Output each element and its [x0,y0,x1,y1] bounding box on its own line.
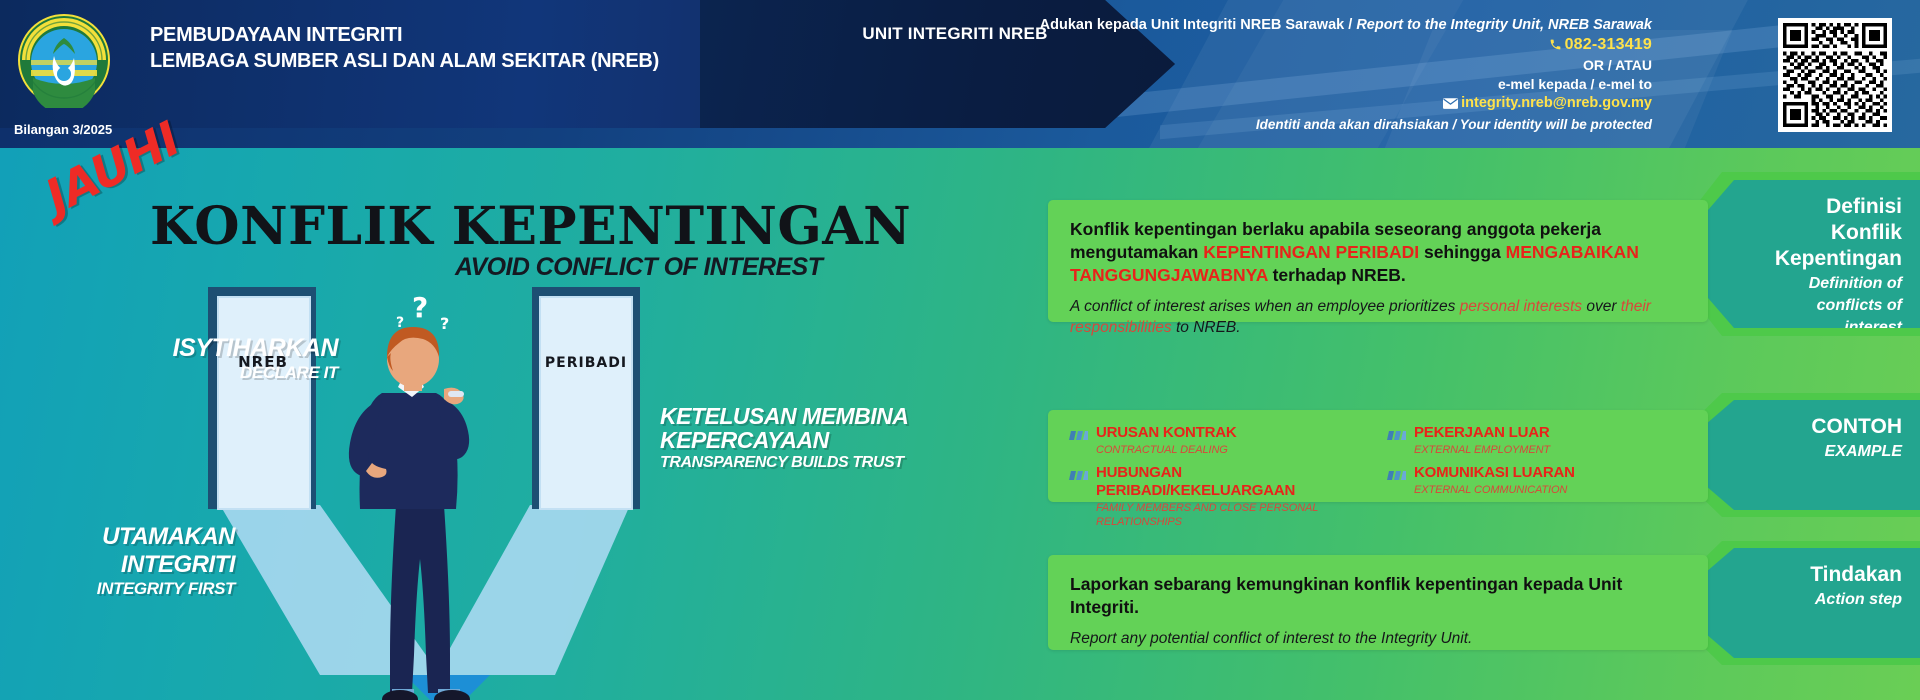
phone-number: 082-313419 [1565,36,1652,53]
list-item: PEKERJAAN LUAR EXTERNAL EMPLOYMENT [1386,424,1688,457]
tab-definition-en-line1: Definition of [1744,274,1902,294]
label-declare: ISYTIHARKAN DECLARE IT [108,334,338,383]
issue-number: Bilangan 3/2025 [14,122,112,137]
def-ms-part3: terhadap NREB. [1268,265,1406,285]
email-address: integrity.nreb@nreb.gov.my [1461,95,1652,111]
email-label: e-mel kepada / e-mel to [952,75,1652,94]
triple-chevron-icon [1068,427,1088,445]
organization-title: PEMBUDAYAAN INTEGRITI LEMBAGA SUMBER ASL… [150,22,659,74]
privacy-note: Identiti anda akan dirahsiakan / Your id… [952,115,1652,134]
def-ms-highlight1: KEPENTINGAN PERIBADI [1203,242,1419,262]
contact-block: Adukan kepada Unit Integriti NREB Sarawa… [952,16,1652,134]
example-en: EXTERNAL EMPLOYMENT [1414,443,1550,457]
example-ms: PEKERJAAN LUAR [1414,424,1550,441]
tab-definition-ms-line1: Definisi [1744,194,1902,220]
definition-text-en: A conflict of interest arises when an em… [1070,296,1686,338]
svg-text:?: ? [412,291,428,324]
example-column-left: URUSAN KONTRAK CONTRACTUAL DEALING HUBUN… [1068,424,1370,536]
panel-example: URUSAN KONTRAK CONTRACTUAL DEALING HUBUN… [1048,410,1708,502]
panel-action: Laporkan sebarang kemungkinan konflik ke… [1048,555,1708,650]
def-ms-part2: sehingga [1419,242,1506,262]
def-en-part2: over [1582,298,1621,315]
tab-example-ms: CONTOH [1744,414,1902,440]
tab-definition-en-line2: conflicts of [1744,296,1902,316]
or-label: OR / ATAU [952,56,1652,75]
phone-icon [1549,37,1562,56]
org-title-line1: PEMBUDAYAAN INTEGRITI [150,22,659,48]
example-item-text: PEKERJAAN LUAR EXTERNAL EMPLOYMENT [1414,424,1550,457]
report-separator: / [1348,17,1352,33]
example-ms: URUSAN KONTRAK [1096,424,1237,441]
report-line: Adukan kepada Unit Integriti NREB Sarawa… [952,16,1652,35]
qr-code[interactable] [1778,18,1892,132]
tab-definition-ms-line3: Kepentingan [1744,246,1902,272]
tab-action-ms: Tindakan [1744,562,1902,588]
svg-text:?: ? [440,314,449,333]
example-item-text: HUBUNGAN PERIBADI/KEKELUARGAAN FAMILY ME… [1096,464,1370,529]
label-integrity-ms: UTAMAKAN INTEGRITI [30,523,235,579]
list-item: KOMUNIKASI LUARAN EXTERNAL COMMUNICATION [1386,464,1688,497]
def-en-part3: to NREB. [1172,319,1241,336]
triple-chevron-icon [1386,467,1406,485]
page-subtitle: AVOID CONFLICT OF INTEREST [455,253,822,282]
example-en: EXTERNAL COMMUNICATION [1414,483,1575,497]
label-trust-ms-line1: KETELUSAN MEMBINA [660,404,930,428]
svg-text:PERIBADI: PERIBADI [545,355,627,371]
example-column-right: PEKERJAAN LUAR EXTERNAL EMPLOYMENT KOMUN… [1386,424,1688,536]
example-item-text: URUSAN KONTRAK CONTRACTUAL DEALING [1096,424,1237,457]
action-text-ms: Laporkan sebarang kemungkinan konflik ke… [1070,573,1686,619]
phone-line[interactable]: 082-313419 [952,35,1652,56]
report-label-ms: Adukan kepada Unit Integriti NREB Sarawa… [1040,17,1345,33]
email-line[interactable]: integrity.nreb@nreb.gov.my [952,94,1652,115]
report-label-en: Report to the Integrity Unit, NREB Saraw… [1356,17,1652,33]
header-bar: PEMBUDAYAAN INTEGRITI LEMBAGA SUMBER ASL… [0,0,1920,148]
svg-text:?: ? [396,315,404,331]
label-declare-en: DECLARE IT [108,363,338,383]
label-integrity-first: UTAMAKAN INTEGRITI INTEGRITY FIRST [30,523,235,599]
label-declare-ms: ISYTIHARKAN [108,334,338,363]
label-transparency: KETELUSAN MEMBINA KEPERCAYAAN TRANSPAREN… [660,404,930,472]
def-en-highlight1: personal interests [1460,298,1582,315]
def-en-part1: A conflict of interest arises when an em… [1070,298,1460,315]
tab-definition-ms-line2: Konflik [1744,220,1902,246]
example-en: CONTRACTUAL DEALING [1096,443,1237,457]
list-item: HUBUNGAN PERIBADI/KEKELUARGAAN FAMILY ME… [1068,464,1370,529]
action-text-en: Report any potential conflict of interes… [1070,628,1686,649]
label-integrity-en: INTEGRITY FIRST [30,579,235,599]
triple-chevron-icon [1386,427,1406,445]
label-trust-en: TRANSPARENCY BUILDS TRUST [660,454,930,472]
definition-text-ms: Konflik kepentingan berlaku apabila sese… [1070,218,1686,287]
label-trust-ms-line2: KEPERCAYAAN [660,428,930,452]
example-ms: KOMUNIKASI LUARAN [1414,464,1575,481]
infographic-poster: PEMBUDAYAAN INTEGRITI LEMBAGA SUMBER ASL… [0,0,1920,700]
triple-chevron-icon [1068,467,1088,485]
example-item-text: KOMUNIKASI LUARAN EXTERNAL COMMUNICATION [1414,464,1575,497]
tab-example-en: EXAMPLE [1744,442,1902,462]
example-ms: HUBUNGAN PERIBADI/KEKELUARGAAN [1096,464,1295,499]
tab-action-en: Action step [1744,590,1902,610]
org-title-line2: LEMBAGA SUMBER ASLI DAN ALAM SEKITAR (NR… [150,48,659,74]
list-item: URUSAN KONTRAK CONTRACTUAL DEALING [1068,424,1370,457]
example-en: FAMILY MEMBERS AND CLOSE PERSONAL RELATI… [1096,501,1370,529]
page-title: KONFLIK KEPENTINGAN [150,196,911,257]
nreb-logo [16,12,112,108]
panel-definition: Konflik kepentingan berlaku apabila sese… [1048,200,1708,322]
envelope-icon [1443,96,1458,115]
